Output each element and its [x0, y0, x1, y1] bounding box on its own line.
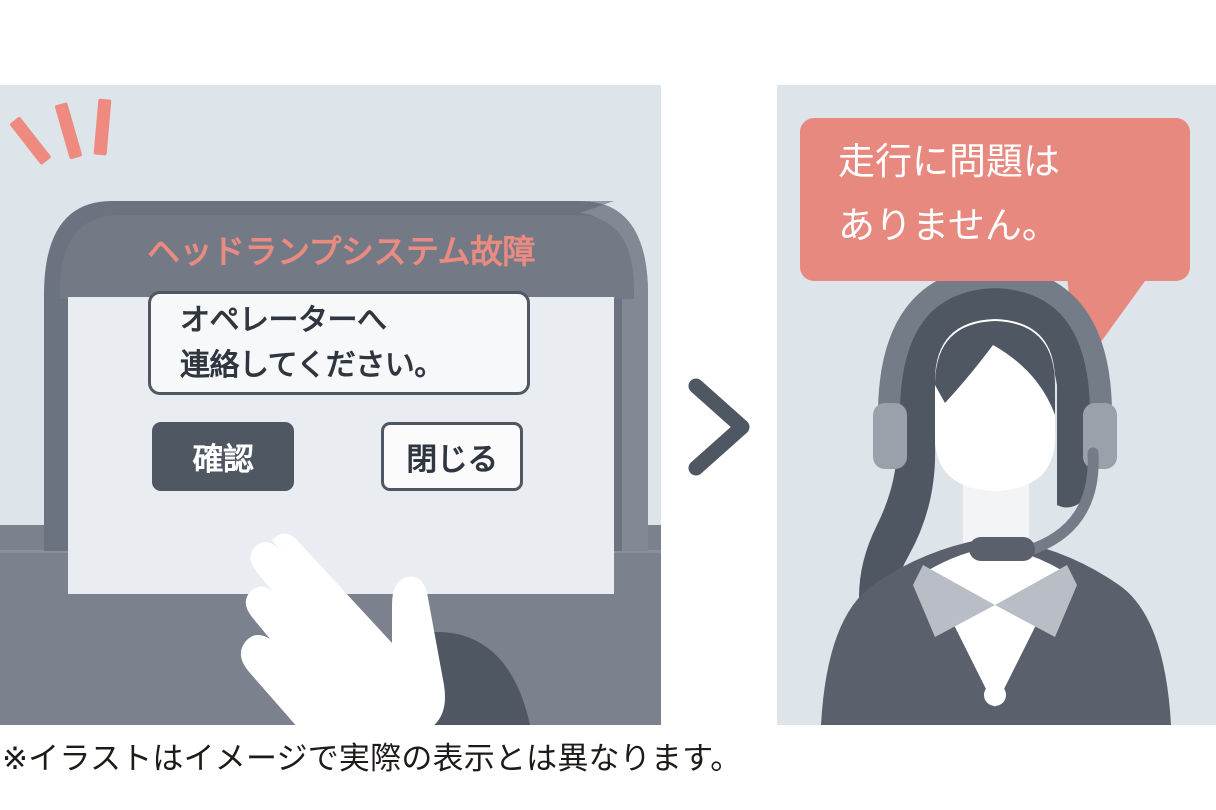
- close-button[interactable]: 閉じる: [381, 422, 523, 491]
- chevron-right-icon: [676, 372, 762, 482]
- speech-bubble-text: 走行に問題は ありません。: [800, 130, 1190, 258]
- figure-caption: ※イラストはイメージで実際の表示とは異なります。: [2, 739, 1102, 779]
- illustration-stage: ヘッドランプシステム故障 オペレーターへ 連絡してください。 確認 閉じる: [0, 0, 1216, 810]
- screen-alert-title: ヘッドランプシステム故障: [68, 225, 614, 273]
- screen-message-text: オペレーターへ 連絡してください。: [168, 298, 530, 388]
- vehicle-display-illustration: [0, 85, 661, 725]
- jacket-button: [984, 684, 1006, 706]
- left-panel: [0, 85, 661, 725]
- headset-earpiece-left: [873, 403, 907, 469]
- headset-microphone: [969, 537, 1035, 561]
- confirm-button[interactable]: 確認: [152, 422, 294, 491]
